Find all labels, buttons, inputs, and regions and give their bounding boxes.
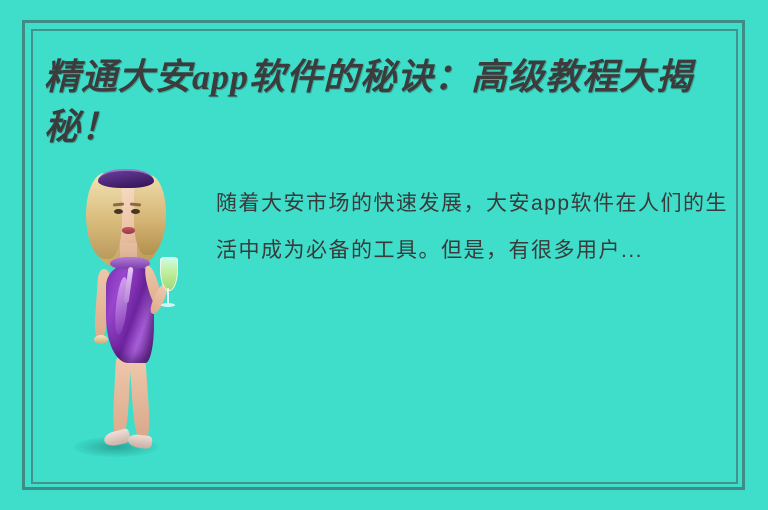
article-excerpt: 随着大安市场的快速发展，大安app软件在人们的生活中成为必备的工具。但是，有很多… [216,180,738,274]
champagne-glass-icon [160,257,178,291]
leg-right [129,353,151,440]
champagne-glass-stem [167,288,169,304]
lips [122,227,135,234]
champagne-glass-foot [161,303,175,307]
article-card: 精通大安app软件的秘诀：高级教程大揭秘！ 随着大安市场的快速发展，大安app软… [0,0,768,510]
page-title: 精通大安app软件的秘诀：高级教程大揭秘！ [44,52,736,152]
sunglasses-icon [98,169,154,188]
leg-left [112,355,131,438]
eye-right [131,209,140,214]
character-illustration [60,165,200,477]
eye-left [114,209,123,214]
bracelet [94,335,108,344]
